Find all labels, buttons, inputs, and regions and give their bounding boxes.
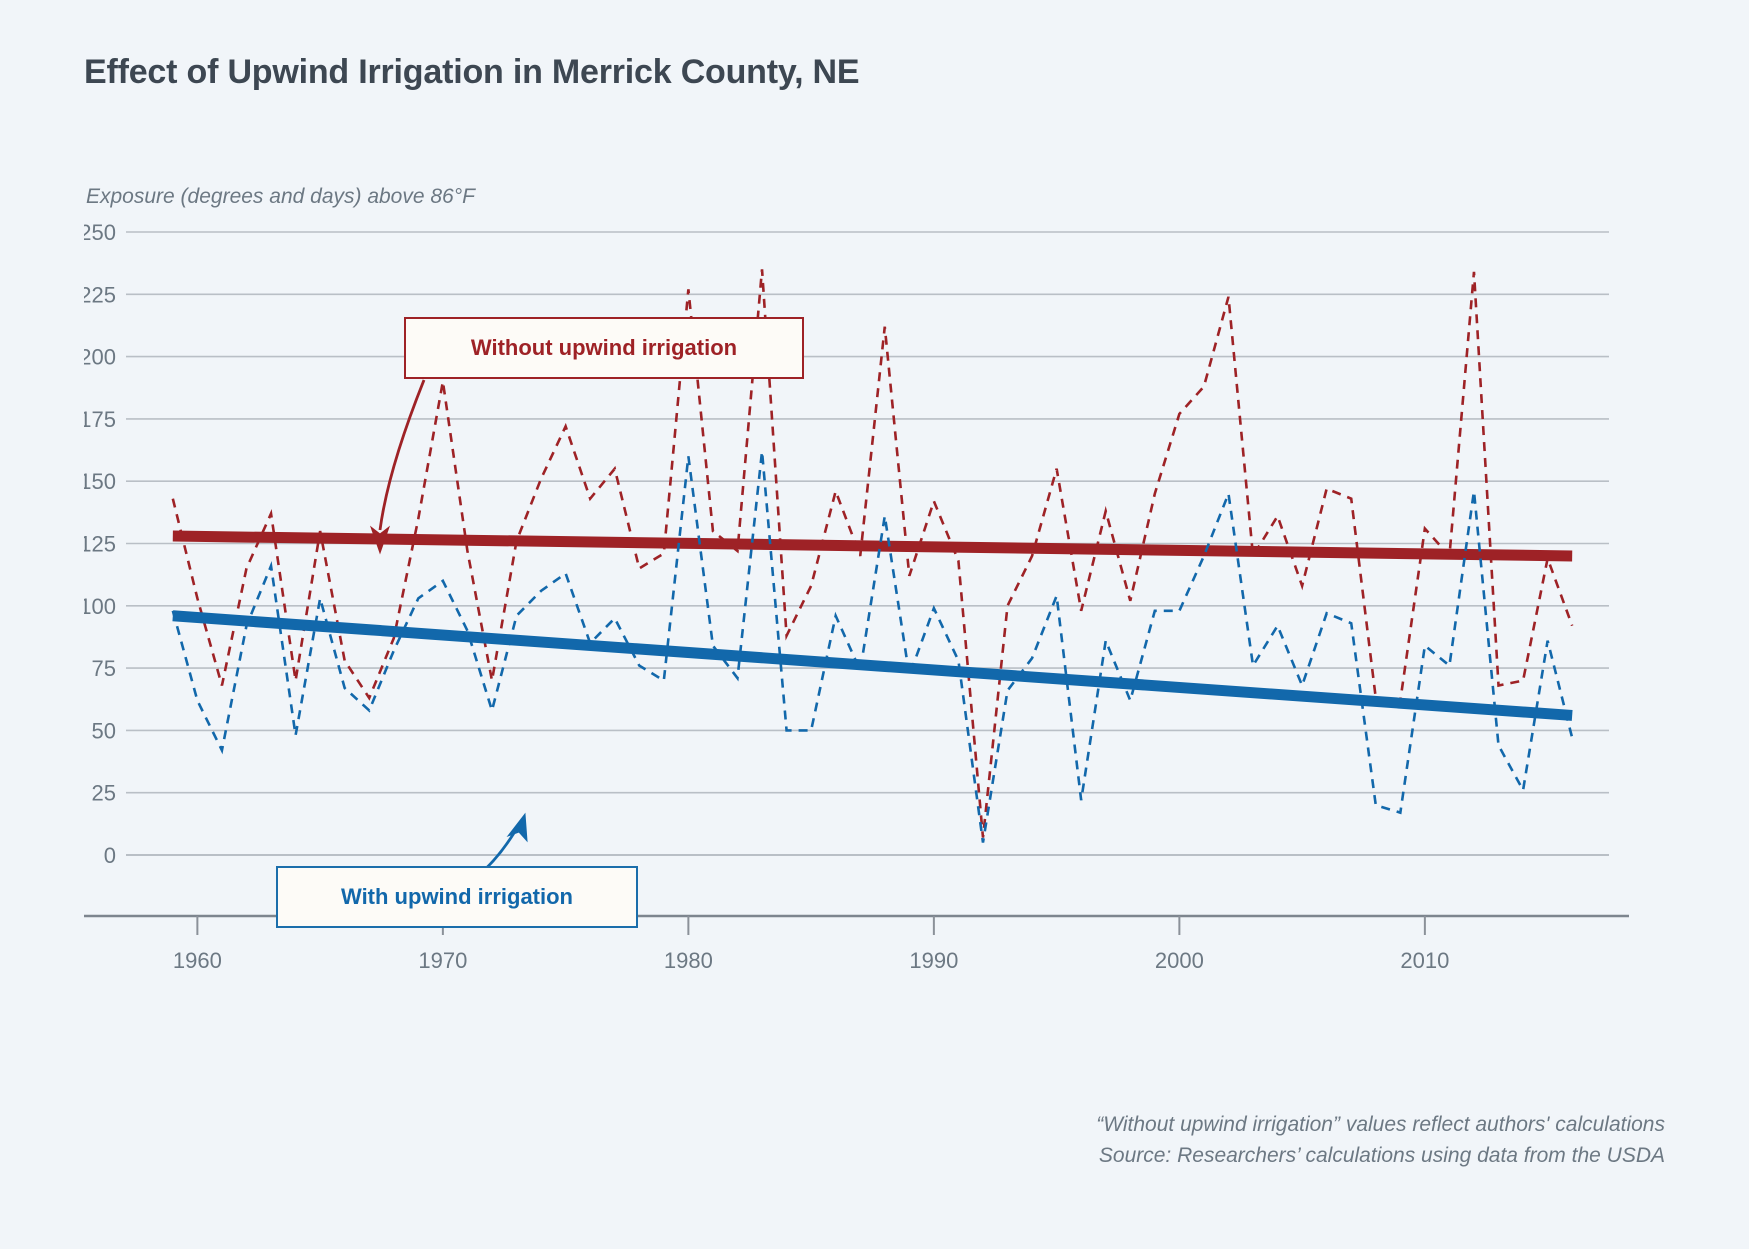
x-tick-1990: 1990	[909, 948, 958, 973]
footnote-line-1: “Without upwind irrigation” values refle…	[1096, 1110, 1665, 1140]
footnote: “Without upwind irrigation” values refle…	[1096, 1110, 1665, 1171]
legend-red-label: Without upwind irrigation	[471, 335, 737, 361]
x-tick-2010: 2010	[1400, 948, 1449, 973]
legend-blue-label: With upwind irrigation	[341, 884, 573, 910]
red-callout-arrow	[380, 380, 424, 530]
page-title: Effect of Upwind Irrigation in Merrick C…	[84, 53, 859, 92]
x-tick-2000: 2000	[1155, 948, 1204, 973]
footnote-line-2: Source: Researchers’ calculations using …	[1096, 1141, 1665, 1171]
legend-with-upwind-irrigation[interactable]: With upwind irrigation	[276, 866, 638, 928]
x-tick-1980: 1980	[664, 948, 713, 973]
y-tick-50: 50	[92, 718, 116, 743]
y-tick-150: 150	[84, 469, 116, 494]
legend-without-upwind-irrigation[interactable]: Without upwind irrigation	[404, 317, 804, 379]
y-tick-25: 25	[92, 781, 116, 806]
x-tick-1970: 1970	[418, 948, 467, 973]
y-tick-100: 100	[84, 594, 116, 619]
y-tick-175: 175	[84, 407, 116, 432]
y-axis-tick-labels: 0255075100125150175200225250	[84, 220, 116, 868]
x-axis-tick-labels: 196019701980199020002010	[173, 948, 1449, 973]
y-tick-0: 0	[104, 843, 116, 868]
x-tick-1960: 1960	[173, 948, 222, 973]
y-tick-125: 125	[84, 532, 116, 557]
y-tick-75: 75	[92, 656, 116, 681]
y-tick-200: 200	[84, 345, 116, 370]
data-series-layer	[173, 269, 1572, 842]
y-tick-225: 225	[84, 282, 116, 307]
y-tick-250: 250	[84, 220, 116, 245]
